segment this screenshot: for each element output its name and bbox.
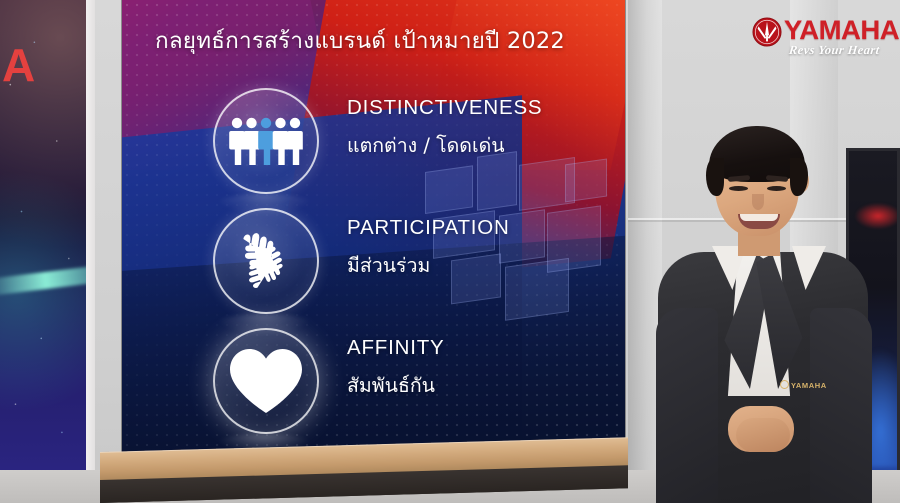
cosmic-poster: A [0, 0, 86, 470]
right-arm [810, 308, 872, 503]
chest-emblem-icon [780, 380, 789, 389]
video-frame: A กลยุทธ์การสร้างแบรนด์ เป้าหมายปี 2022 [0, 0, 900, 503]
heart-icon [213, 328, 319, 434]
nose [752, 194, 764, 210]
list-item: AFFINITY สัมพันธ์กัน [122, 322, 625, 442]
list-item-title-en: DISTINCTIVENESS [347, 96, 542, 120]
left-arm [656, 308, 718, 503]
list-item-text: DISTINCTIVENESS แตกต่าง / โดดเด่น [347, 96, 542, 161]
three-hands-teamwork-icon [213, 208, 319, 314]
clasped-hands-upper [736, 418, 790, 452]
poster-frame-edge [86, 0, 95, 472]
yamaha-logo: YAMAHA Revs Your Heart [752, 12, 892, 62]
poster-letter: A [2, 38, 34, 92]
presenter: YAMAHA [640, 118, 900, 503]
yamaha-tuning-fork-icon [752, 17, 782, 47]
teeth [740, 214, 778, 221]
yamaha-tagline: Revs Your Heart [788, 43, 880, 58]
list-item-title-en: PARTICIPATION [347, 216, 510, 240]
list-item-title-th: แตกต่าง / โดดเด่น [347, 130, 542, 161]
list-item: PARTICIPATION มีส่วนร่วม [122, 202, 625, 322]
list-item-text: AFFINITY สัมพันธ์กัน [347, 336, 445, 401]
hair-side-left [706, 158, 724, 196]
list-item-title-th: สัมพันธ์กัน [347, 370, 445, 401]
yamaha-wordmark: YAMAHA [784, 15, 899, 46]
list-item-title-th: มีส่วนร่วม [347, 250, 510, 281]
list-item: DISTINCTIVENESS แตกต่าง / โดดเด่น [122, 82, 625, 202]
eye-right [767, 186, 786, 191]
poster-light-streak [0, 265, 86, 296]
list-item-text: PARTICIPATION มีส่วนร่วม [347, 216, 510, 281]
chest-yamaha-logo: YAMAHA [780, 380, 827, 390]
eye-left [729, 186, 748, 191]
presentation-screen: กลยุทธ์การสร้างแบรนด์ เป้าหมายปี 2022 [122, 0, 625, 452]
group-of-people-icon [213, 88, 319, 194]
list-item-title-en: AFFINITY [347, 336, 445, 360]
slide-title: กลยุทธ์การสร้างแบรนด์ เป้าหมายปี 2022 [155, 22, 605, 58]
strategy-list: DISTINCTIVENESS แตกต่าง / โดดเด่น [122, 82, 625, 442]
